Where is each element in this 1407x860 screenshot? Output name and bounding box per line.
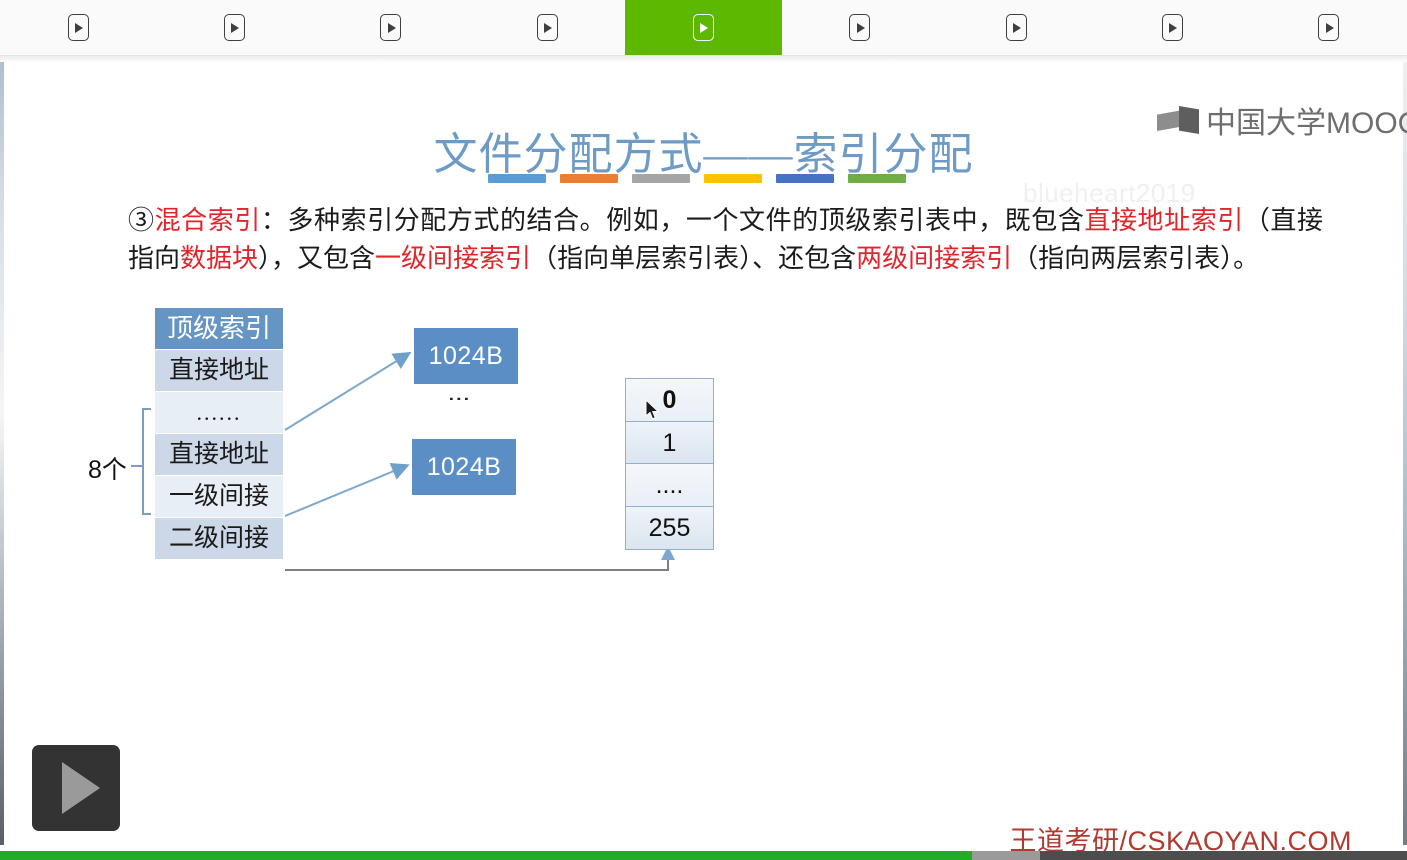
bracket-label-8: 8个 (88, 450, 127, 486)
single-level-index-table: 0 1 .... 255 (625, 378, 714, 550)
data-block-1024b-top: 1024B (414, 328, 518, 384)
index-entry-1: 1 (626, 422, 713, 465)
top-index-row-double-indirect: 二级间接 (155, 518, 283, 560)
data-block-1024b-bottom: 1024B (412, 439, 516, 495)
top-index-row-ellipsis: ...... (155, 392, 283, 434)
play-triangle-icon (62, 762, 100, 814)
top-index-row-direct-address-2: 直接地址 (155, 434, 283, 476)
progress-bar[interactable] (0, 851, 1407, 860)
top-index-row-direct-address-1: 直接地址 (155, 350, 283, 392)
play-button[interactable] (32, 745, 120, 831)
top-index-header: 顶级索引 (155, 308, 283, 350)
index-entry-0: 0 (626, 379, 713, 422)
index-allocation-diagram: 顶级索引 直接地址 ...... 直接地址 一级间接 二级间接 8个 1024B… (0, 0, 1407, 783)
top-index-row-single-indirect: 一级间接 (155, 476, 283, 518)
index-entry-255: 255 (626, 507, 713, 550)
top-index-table: 顶级索引 直接地址 ...... 直接地址 一级间接 二级间接 (155, 308, 283, 560)
progress-played (0, 851, 972, 860)
app-root: 中国大学MOOC 文件分配方式——索引分配 blueheart2019 ③混合索… (0, 0, 1407, 860)
mouse-pointer-cursor (645, 399, 661, 421)
data-block-vertical-ellipsis: ⋮ (455, 388, 464, 410)
index-entry-ellipsis: .... (626, 464, 713, 507)
